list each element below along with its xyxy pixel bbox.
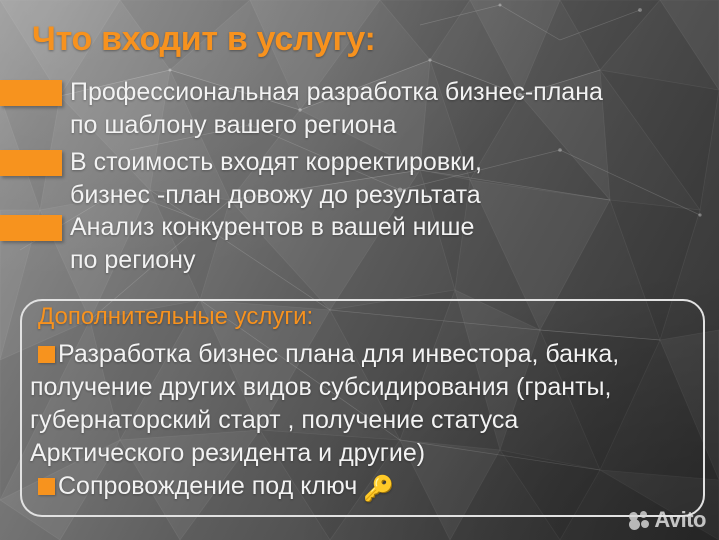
panel-list-item-label: Сопровождение под ключ [58,472,357,500]
key-icon: 🔑 [363,477,394,502]
avito-dots-icon [629,511,649,529]
panel-list-item: Разработка бизнес плана для инвестора, б… [38,338,688,371]
orange-rectangle-bullet-icon [0,215,62,241]
panel-list-item-label: Разработка бизнес плана для инвестора, б… [58,340,619,368]
list-item-label: В стоимость входят корректировки, бизнес… [70,146,710,212]
panel-list-item-continuation: получение других видов субсидирования (г… [30,371,695,470]
avito-watermark: Avito [629,509,706,531]
page-title: Что входит в услугу: [32,20,376,59]
orange-square-bullet-icon [38,346,55,363]
additional-services-title: Дополнительные услуги: [38,303,313,331]
list-item-label: Профессиональная разработка бизнес-плана… [70,76,710,142]
orange-rectangle-bullet-icon [0,80,62,106]
avito-brand-label: Avito [654,509,706,531]
orange-square-bullet-icon [38,478,55,495]
panel-list-item: Сопровождение под ключ🔑 [38,470,688,503]
orange-rectangle-bullet-icon [0,150,62,176]
list-item-label: Анализ конкурентов в вашей нише по регио… [70,211,710,277]
slide-canvas: Что входит в услугу: Профессиональная ра… [0,0,719,540]
